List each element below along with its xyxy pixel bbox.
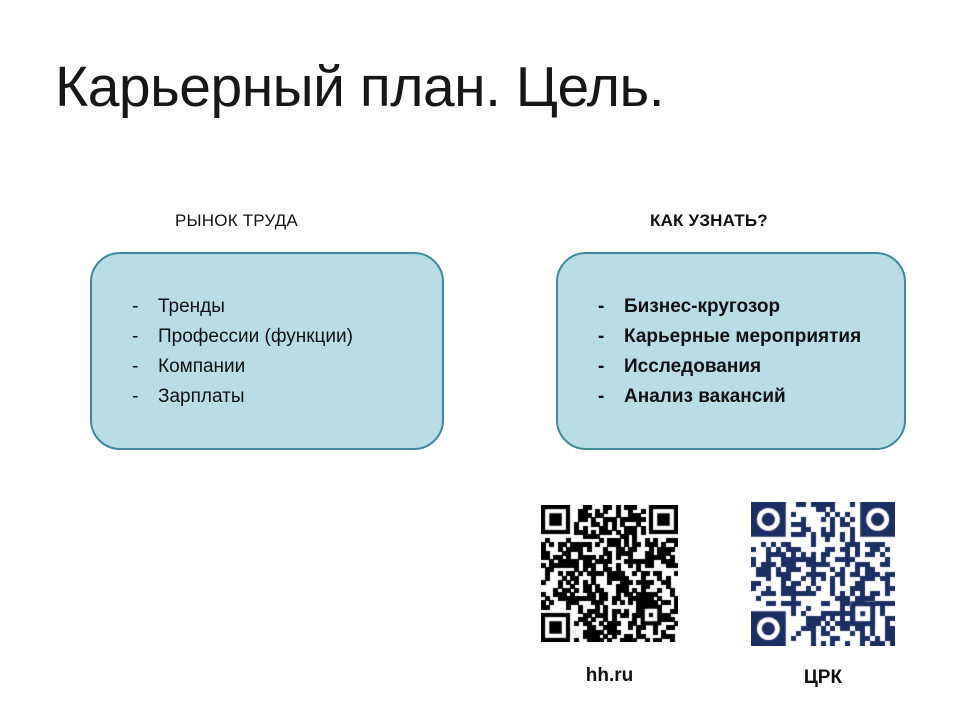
list-item-label: Тренды xyxy=(158,292,225,322)
bullet-list-labor-market: - Тренды - Профессии (функции) - Компани… xyxy=(132,292,353,412)
list-item: - Тренды xyxy=(132,292,353,322)
list-item: - Карьерные мероприятия xyxy=(598,322,861,352)
list-item: - Компании xyxy=(132,352,353,382)
panel-how-to-find-out: - Бизнес-кругозор - Карьерные мероприяти… xyxy=(556,252,906,450)
dash-bullet-icon: - xyxy=(598,352,624,382)
list-item-label: Карьерные мероприятия xyxy=(624,322,861,352)
dash-bullet-icon: - xyxy=(132,292,158,322)
dash-bullet-icon: - xyxy=(598,292,624,322)
column-header-labor-market: РЫНОК ТРУДА xyxy=(175,212,298,229)
dash-bullet-icon: - xyxy=(132,352,158,382)
qr-label-crk: ЦРК xyxy=(751,668,895,687)
list-item-label: Бизнес-кругозор xyxy=(624,292,780,322)
qr-label-hh: hh.ru xyxy=(541,666,678,685)
list-item: - Бизнес-кругозор xyxy=(598,292,861,322)
dash-bullet-icon: - xyxy=(132,322,158,352)
list-item: - Профессии (функции) xyxy=(132,322,353,352)
list-item-label: Зарплаты xyxy=(158,382,245,412)
qr-code-icon-crk[interactable] xyxy=(751,502,895,646)
list-item: - Исследования xyxy=(598,352,861,382)
list-item: - Анализ вакансий xyxy=(598,382,861,412)
page-title: Карьерный план. Цель. xyxy=(55,58,664,118)
slide-canvas: Карьерный план. Цель. РЫНОК ТРУДА КАК УЗ… xyxy=(0,0,960,720)
dash-bullet-icon: - xyxy=(132,382,158,412)
dash-bullet-icon: - xyxy=(598,382,624,412)
list-item-label: Компании xyxy=(158,352,245,382)
dash-bullet-icon: - xyxy=(598,322,624,352)
list-item: - Зарплаты xyxy=(132,382,353,412)
qr-block-crk[interactable]: ЦРК xyxy=(751,502,895,687)
column-header-how-to-find-out: КАК УЗНАТЬ? xyxy=(650,212,768,229)
panel-labor-market: - Тренды - Профессии (функции) - Компани… xyxy=(90,252,444,450)
bullet-list-how-to-find-out: - Бизнес-кругозор - Карьерные мероприяти… xyxy=(598,292,861,412)
qr-code-icon-hh[interactable] xyxy=(541,505,678,642)
list-item-label: Анализ вакансий xyxy=(624,382,786,412)
list-item-label: Профессии (функции) xyxy=(158,322,353,352)
list-item-label: Исследования xyxy=(624,352,761,382)
qr-block-hh[interactable]: hh.ru xyxy=(541,505,678,685)
